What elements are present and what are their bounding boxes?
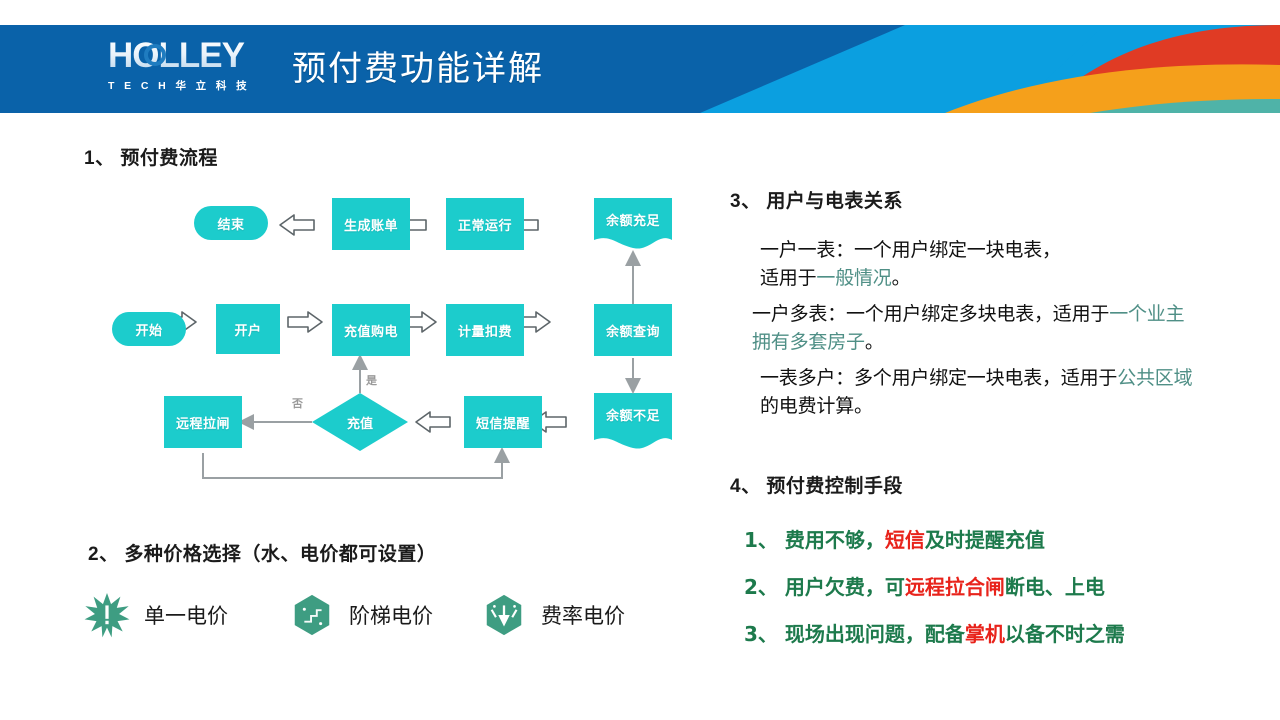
section-heading-3: 3、 用户与电表关系 [730, 186, 903, 213]
slide-header: HOLLEY T E C H 华 立 科 技 预付费功能详解 [0, 25, 1280, 113]
relation-item-1: 一户一表：一个用户绑定一块电表，适用于一般情况。 [760, 236, 1070, 292]
flow-node-open-account[interactable]: 开户 [216, 304, 280, 354]
flow-node-balance-query[interactable]: 余额查询 [594, 304, 672, 356]
hexagon-rate-icon [481, 592, 527, 638]
relation-text-b: 的电费计算。 [760, 395, 873, 417]
price-option-tiered[interactable]: 阶梯电价 [289, 592, 433, 638]
flow-node-balance-insufficient[interactable]: 余额不足 [594, 393, 672, 435]
section-heading-4: 4、 预付费控制手段 [730, 471, 903, 498]
section-heading-2: 2、 多种价格选择（水、电价都可设置） [88, 539, 436, 566]
control-item-2: 2、 用户欠费，可远程拉合闸断电、上电 [744, 574, 1244, 600]
control-text-red: 短信 [885, 528, 925, 552]
section-heading-1: 1、 预付费流程 [84, 143, 218, 170]
flow-node-sms-reminder[interactable]: 短信提醒 [464, 396, 542, 448]
hexagon-steps-icon [289, 592, 335, 638]
relation-item-2: 一户多表：一个用户绑定多块电表，适用于一个业主拥有多套房子。 [752, 300, 1192, 356]
logo-subtext: T E C H 华 立 科 技 [108, 78, 268, 93]
flow-node-generate-bill[interactable]: 生成账单 [332, 198, 410, 250]
relation-text-a: 一户多表：一个用户绑定多块电表，适用于 [752, 303, 1109, 325]
flow-node-start[interactable]: 开始 [112, 312, 186, 346]
prepaid-flowchart: 结束 生成账单 正常运行 余额充足 开始 开户 充值购电 计量扣费 余额查询 远… [180, 190, 700, 480]
flow-branch-label-no: 否 [292, 395, 303, 411]
flow-node-remote-trip[interactable]: 远程拉闸 [164, 396, 242, 448]
flow-node-normal-operation[interactable]: 正常运行 [446, 198, 524, 250]
price-option-single[interactable]: 单一电价 [84, 592, 228, 638]
relation-text-b: 。 [892, 267, 911, 289]
holley-logo: HOLLEY T E C H 华 立 科 技 [108, 37, 268, 99]
relation-item-3: 一表多户：多个用户绑定一块电表，适用于公共区域的电费计算。 [760, 364, 1200, 420]
flow-node-recharge-decision[interactable]: 充值 [312, 406, 408, 438]
control-text-red: 掌机 [965, 622, 1005, 646]
control-item-3: 3、 现场出现问题，配备掌机以备不时之需 [744, 621, 1244, 647]
relation-text-a: 一表多户：多个用户绑定一块电表，适用于 [760, 367, 1117, 389]
price-options-row: 单一电价 阶梯电价 费率电价 [84, 592, 684, 652]
price-option-label: 单一电价 [144, 600, 228, 630]
control-text-red: 远程拉合闸 [905, 575, 1005, 599]
flow-node-balance-sufficient[interactable]: 余额充足 [594, 198, 672, 240]
control-text-a: 2、 用户欠费，可 [744, 575, 905, 599]
price-option-label: 费率电价 [541, 600, 625, 630]
control-text-b: 及时提醒充值 [925, 528, 1045, 552]
logo-ring-icon [144, 44, 166, 66]
control-text-b: 以备不时之需 [1005, 622, 1125, 646]
flow-node-metering-deduction[interactable]: 计量扣费 [446, 304, 524, 356]
logo-wordmark: HOLLEY [108, 37, 268, 75]
relation-text-highlight: 一般情况 [816, 267, 891, 289]
flow-node-end[interactable]: 结束 [194, 206, 268, 240]
control-text-a: 3、 现场出现问题，配备 [744, 622, 965, 646]
control-item-1: 1、 费用不够，短信及时提醒充值 [744, 527, 1244, 553]
control-text-b: 断电、上电 [1005, 575, 1105, 599]
relation-text-b: 。 [865, 331, 884, 353]
flow-branch-label-yes: 是 [366, 372, 377, 388]
price-option-label: 阶梯电价 [349, 600, 433, 630]
control-text-a: 1、 费用不够， [744, 528, 885, 552]
page-title: 预付费功能详解 [292, 40, 544, 98]
relation-text-highlight: 公共区域 [1117, 367, 1192, 389]
starburst-icon [84, 592, 130, 638]
flow-node-recharge-buy-power[interactable]: 充值购电 [332, 304, 410, 356]
slide-canvas: HOLLEY T E C H 华 立 科 技 预付费功能详解 1、 预付费流程 … [0, 0, 1280, 720]
price-option-rate[interactable]: 费率电价 [481, 592, 625, 638]
